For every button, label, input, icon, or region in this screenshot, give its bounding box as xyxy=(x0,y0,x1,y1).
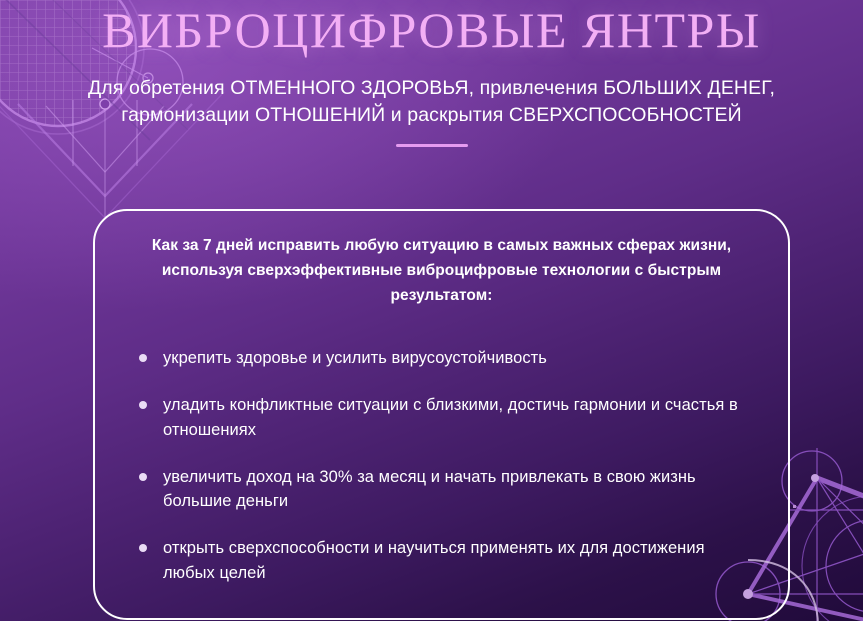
list-item-label: уладить конфликтные ситуации с близкими,… xyxy=(163,396,738,439)
list-item: открыть сверхспособности и научиться при… xyxy=(137,536,754,586)
list-item: уладить конфликтные ситуации с близкими,… xyxy=(137,393,754,443)
page-header: ВИБРОЦИФРОВЫЕ ЯНТРЫ Для обретения ОТМЕНН… xyxy=(0,0,863,147)
list-item: укрепить здоровье и усилить вирусоустойч… xyxy=(137,346,754,371)
list-item-label: укрепить здоровье и усилить вирусоустойч… xyxy=(163,349,547,367)
bullet-dot-icon xyxy=(139,354,147,362)
page-title: ВИБРОЦИФРОВЫЕ ЯНТРЫ xyxy=(0,0,863,57)
benefits-card: Как за 7 дней исправить любую ситуацию в… xyxy=(93,209,790,620)
bottom-strip xyxy=(0,621,863,626)
title-divider xyxy=(396,144,468,147)
list-item-label: увеличить доход на 30% за месяц и начать… xyxy=(163,468,696,511)
benefits-list: укрепить здоровье и усилить вирусоустойч… xyxy=(95,308,788,585)
list-item-label: открыть сверхспособности и научиться при… xyxy=(163,539,705,582)
bullet-dot-icon xyxy=(139,544,147,552)
bullet-dot-icon xyxy=(139,401,147,409)
card-heading: Как за 7 дней исправить любую ситуацию в… xyxy=(95,211,788,308)
page-subtitle: Для обретения ОТМЕННОГО ЗДОРОВЬЯ, привле… xyxy=(87,75,777,130)
list-item: увеличить доход на 30% за месяц и начать… xyxy=(137,465,754,515)
bullet-dot-icon xyxy=(139,473,147,481)
landing-page: ВИБРОЦИФРОВЫЕ ЯНТРЫ Для обретения ОТМЕНН… xyxy=(0,0,863,626)
